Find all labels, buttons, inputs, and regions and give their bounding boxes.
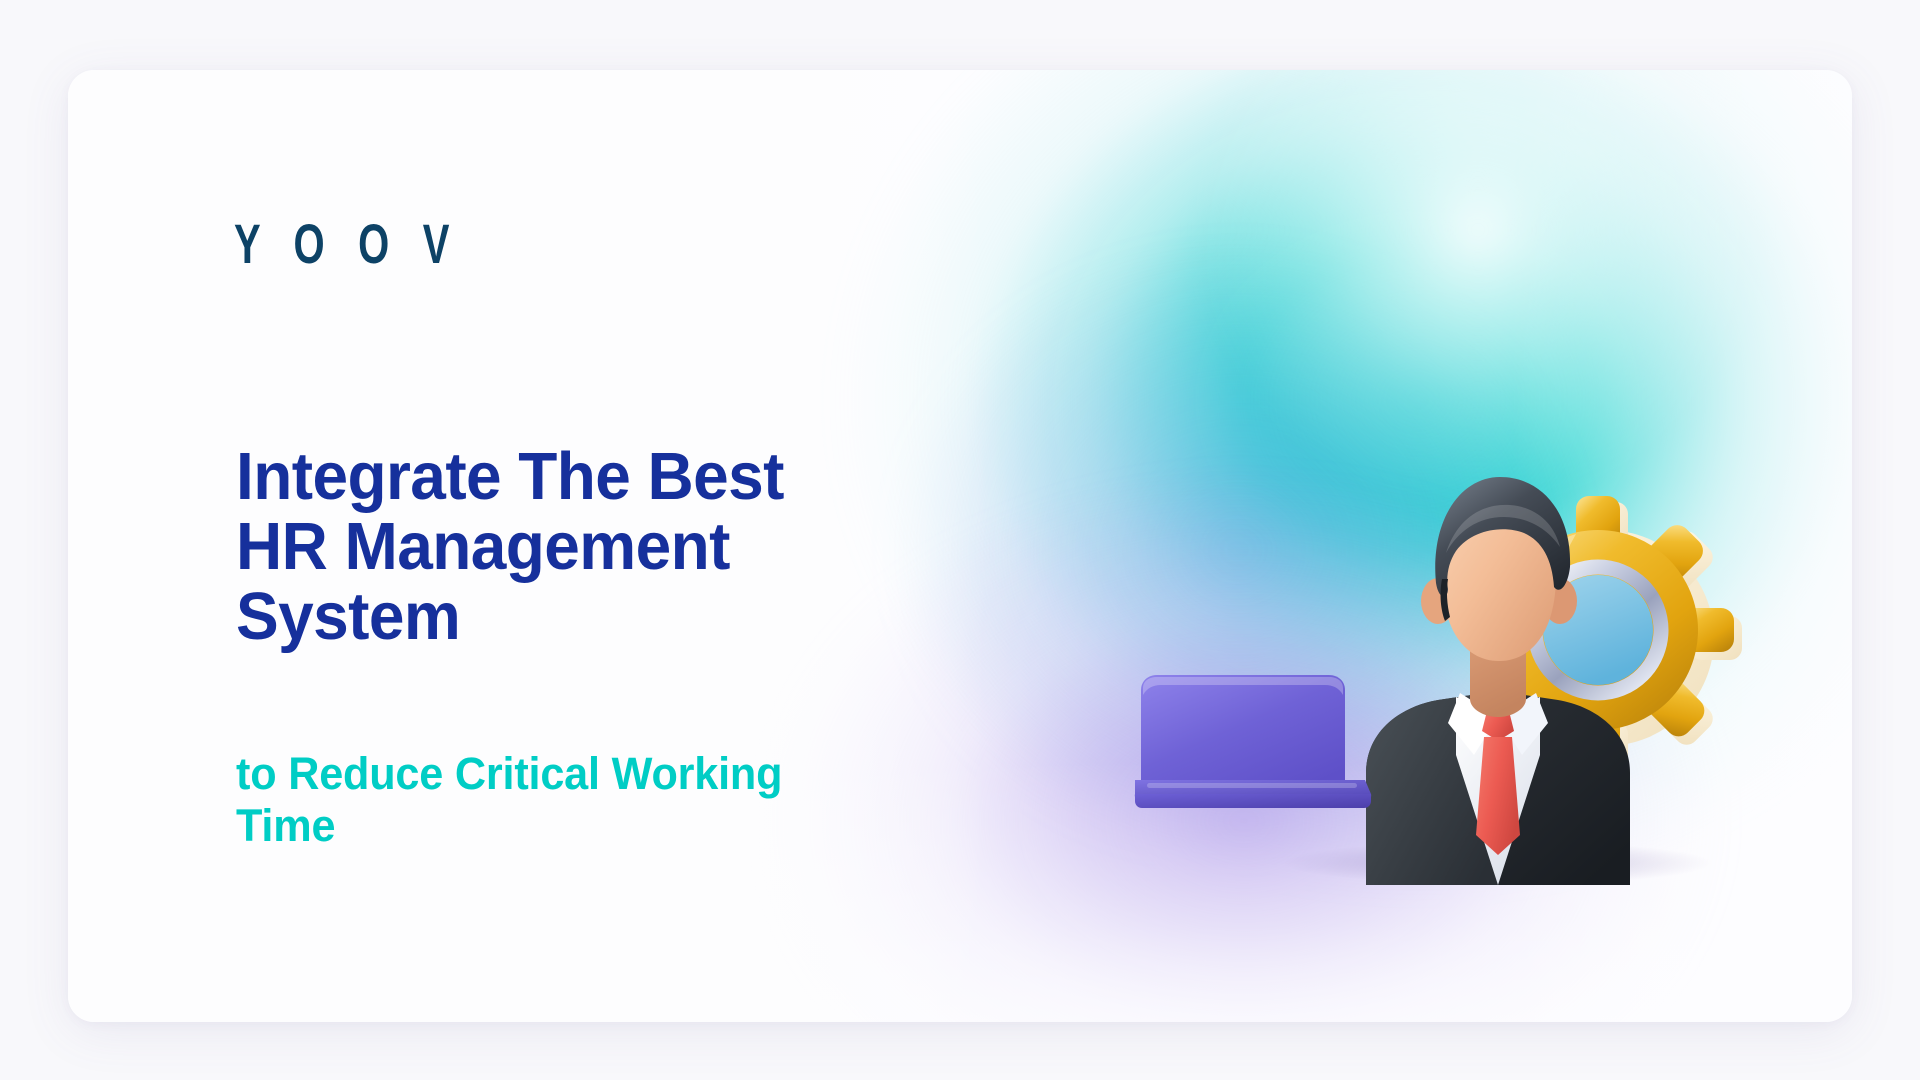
laptop-icon bbox=[1133, 668, 1403, 818]
subheadline-line-1: to Reduce Critical Working bbox=[236, 748, 994, 800]
person-body bbox=[1366, 691, 1630, 885]
hero-card: Y O O V Integrate The Best HR Management… bbox=[68, 70, 1852, 1022]
headline-line-3: System bbox=[236, 582, 1019, 652]
tie bbox=[1476, 707, 1520, 855]
page-title: Integrate The Best HR Management System bbox=[236, 442, 1019, 652]
page-subtitle: to Reduce Critical Working Time bbox=[236, 748, 994, 852]
headline-line-1: Integrate The Best bbox=[236, 442, 1019, 512]
laptop-illustration bbox=[1133, 668, 1403, 818]
subheadline-line-2: Time bbox=[236, 800, 994, 852]
yoov-logo: Y O O V bbox=[234, 216, 461, 272]
banner-page: Y O O V Integrate The Best HR Management… bbox=[0, 0, 1920, 1080]
laptop-screen bbox=[1141, 675, 1345, 780]
headline-line-2: HR Management bbox=[236, 512, 1019, 582]
